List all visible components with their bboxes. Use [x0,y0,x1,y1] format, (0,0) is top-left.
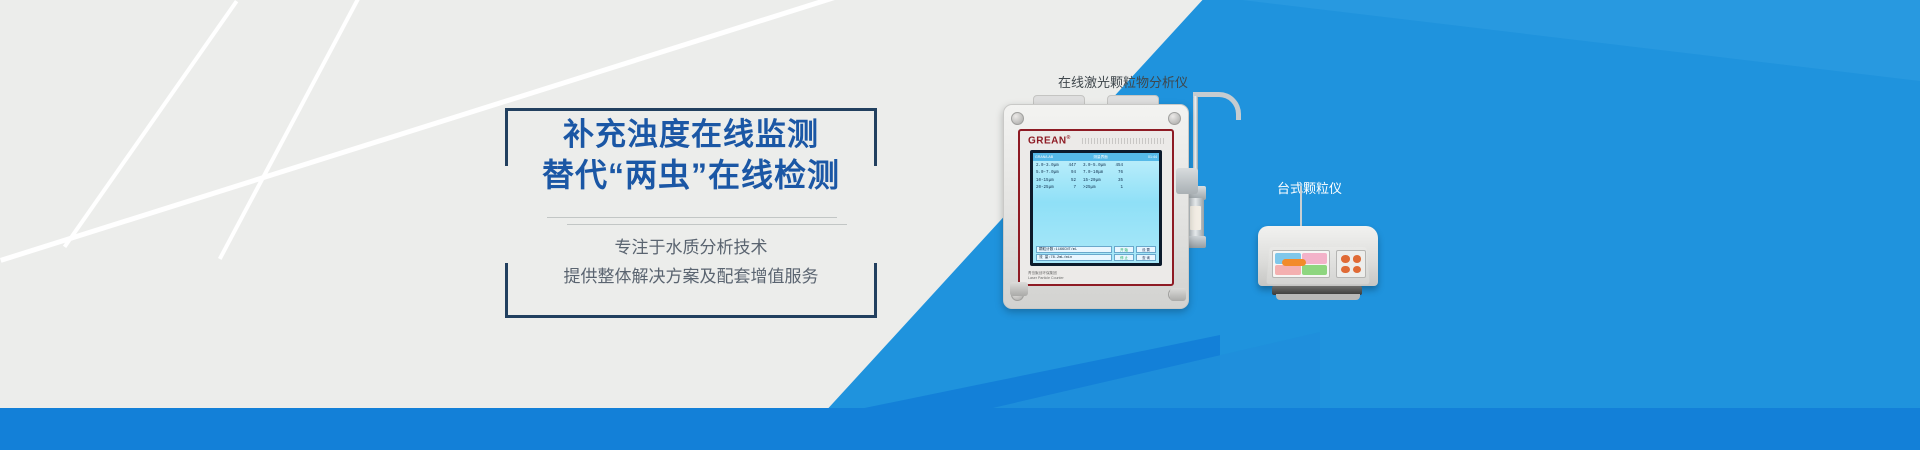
callout-benchtop-label: 台式颗粒仪 [1277,178,1342,197]
display-highlight-pill [1282,259,1306,266]
particle-count-field: 颗粒计数:1166CNT/mL [1036,246,1112,253]
range-value: 52 [1062,178,1076,185]
brand-text: GREAN [1028,135,1067,146]
keypad-button-4[interactable] [1353,266,1362,274]
keypad-button-3[interactable] [1341,266,1350,274]
keypad-button-1[interactable] [1341,255,1350,263]
range-value: 76 [1109,170,1123,177]
headline-line-1: 补充浊度在线监测 [505,114,877,155]
table-row: 2.0-3.0μm447 3.0-5.0μm454 [1036,163,1156,170]
range-label: 3.0-5.0μm [1083,163,1109,170]
screw-top-right [1168,112,1181,125]
range-label: 20-25μm [1036,185,1062,192]
brand-logo: GREAN® [1028,135,1071,146]
benchtop-particle-counter [1258,218,1378,298]
display-header: GRAN/LAB 测量界面 01:44 [1033,153,1159,161]
online-laser-particle-analyzer: GREAN® GRAN/LAB 测量界面 01:44 2.0-3.0μm447 [1003,104,1189,309]
background-bottom-bar [0,408,1920,450]
range-label: 5.0-7.0μm [1036,170,1062,177]
range-value: 94 [1062,170,1076,177]
subtitle-group: 专注于水质分析技术 提供整体解决方案及配套增值服务 [505,233,877,291]
display-control-row: 流 量:78.2mL/min 停 止 查 询 [1036,254,1156,261]
query-button[interactable]: 查 询 [1136,254,1156,261]
divider-line-1 [547,217,837,218]
panel-footer-en: Laser Particle Counter [1028,276,1064,281]
display-tile-3 [1275,265,1301,276]
display-tile-4 [1302,265,1328,276]
vent-grille [1082,138,1166,144]
analyzer-side-port [1176,168,1198,194]
settings-button[interactable]: 设 置 [1136,246,1156,253]
device-display[interactable]: GRAN/LAB 测量界面 01:44 2.0-3.0μm447 3.0-5.0… [1033,153,1159,263]
display-header-center: 测量界面 [1093,155,1107,160]
device-display-bezel: GRAN/LAB 测量界面 01:44 2.0-3.0μm447 3.0-5.0… [1030,150,1162,266]
display-header-left: GRAN/LAB [1035,155,1053,159]
table-row: 10-15μm52 15-20μm35 [1036,178,1156,185]
subtitle-line-1: 专注于水质分析技术 [505,233,877,262]
front-panel: GREAN® GRAN/LAB 测量界面 01:44 2.0-3.0μm447 [1018,129,1174,286]
particle-count-table: 2.0-3.0μm447 3.0-5.0μm454 5.0-7.0μm94 7.… [1033,161,1159,244]
range-value: 1 [1109,185,1123,192]
panel-footer-text: 青岛聚创环保集团 Laser Particle Counter [1028,271,1064,281]
range-label: 2.0-3.0μm [1036,163,1062,170]
screw-top-left [1011,112,1024,125]
benchtop-body [1258,226,1378,286]
range-value: 447 [1062,163,1076,170]
sensor-label [1190,206,1201,230]
display-controls: 颗粒计数:1166CNT/mL 开 始 设 置 流 量:78.2mL/min 停… [1033,244,1159,263]
bracket-top [505,108,877,111]
benchtop-base [1276,294,1360,300]
callout-analyzer-label: 在线激光颗粒物分析仪 [1058,72,1188,91]
range-value: 35 [1109,178,1123,185]
brand-registered-mark: ® [1067,135,1071,141]
subtitle-line-2: 提供整体解决方案及配套增值服务 [505,262,877,291]
display-control-row: 颗粒计数:1166CNT/mL 开 始 设 置 [1036,246,1156,253]
banner-root: 补充浊度在线监测 替代“两虫”在线检测 专注于水质分析技术 提供整体解决方案及配… [0,0,1920,450]
range-value: 454 [1109,163,1123,170]
range-label: 7.0-10μm [1083,170,1109,177]
diagonal-line-3 [218,0,466,260]
benchtop-keypad[interactable] [1336,250,1366,278]
enclosure-body: GREAN® GRAN/LAB 测量界面 01:44 2.0-3.0μm447 [1003,104,1189,309]
range-value: 7 [1062,185,1076,192]
divider-line-2 [567,224,847,225]
benchtop-antenna [1300,186,1302,228]
headline-block: 补充浊度在线监测 替代“两虫”在线检测 专注于水质分析技术 提供整体解决方案及配… [505,108,877,318]
stop-button[interactable]: 停 止 [1114,254,1134,261]
range-label: 10-15μm [1036,178,1062,185]
start-button[interactable]: 开 始 [1114,246,1134,253]
headline: 补充浊度在线监测 替代“两虫”在线检测 [505,114,877,196]
flow-rate-field: 流 量:78.2mL/min [1036,254,1112,261]
bracket-bottom [505,315,877,318]
table-row: 20-25μm7 >25μm1 [1036,185,1156,192]
keypad-button-2[interactable] [1353,255,1362,263]
headline-line-2: 替代“两虫”在线检测 [505,155,877,196]
table-row: 5.0-7.0μm94 7.0-10μm76 [1036,170,1156,177]
range-label: >25μm [1083,185,1109,192]
range-label: 15-20μm [1083,178,1109,185]
display-header-right: 01:44 [1148,155,1157,159]
analyzer-cable-gland-left [1010,282,1028,296]
analyzer-cable-gland-right [1170,288,1186,301]
